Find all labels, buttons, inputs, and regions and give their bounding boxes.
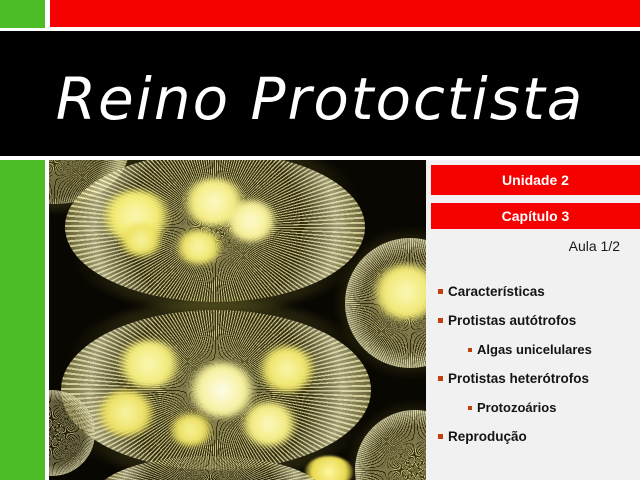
list-item-label: Protozoários	[477, 400, 556, 415]
volvox-cell-lower	[61, 310, 371, 470]
lesson-label: Aula 1/2	[426, 238, 620, 254]
bullet-square-icon	[438, 318, 443, 323]
content-panel: Unidade 2 Capítulo 3 Aula 1/2 Caracterís…	[426, 160, 640, 480]
unit-label: Unidade 2	[502, 172, 569, 188]
top-red-accent	[50, 0, 640, 27]
list-item: Protistas autótrofos	[426, 306, 640, 335]
title-band: Reino Protoctista	[0, 31, 640, 156]
bullet-square-icon	[468, 406, 472, 410]
volvox-daughter-colony	[305, 456, 353, 480]
list-item-label: Características	[448, 284, 545, 299]
list-item: Protozoários	[426, 393, 640, 422]
slide: Reino Protoctista	[0, 0, 640, 480]
list-item: Características	[426, 277, 640, 306]
bullet-square-icon	[438, 376, 443, 381]
topic-list: Características Protistas autótrofos Alg…	[426, 277, 640, 451]
list-item: Reprodução	[426, 422, 640, 451]
chapter-label: Capítulo 3	[502, 208, 570, 224]
unit-band: Unidade 2	[431, 165, 640, 195]
list-item: Protistas heterótrofos	[426, 364, 640, 393]
volvox-cell-upper	[65, 160, 365, 302]
bullet-square-icon	[468, 348, 472, 352]
list-item-label: Reprodução	[448, 429, 527, 444]
list-item-label: Algas unicelulares	[477, 342, 592, 357]
bullet-square-icon	[438, 289, 443, 294]
volvox-photo	[49, 160, 426, 480]
left-green-rail	[0, 160, 45, 480]
list-item-label: Protistas heterótrofos	[448, 371, 589, 386]
top-green-accent	[0, 0, 45, 28]
chapter-band: Capítulo 3	[431, 203, 640, 229]
slide-title: Reino Protoctista	[0, 65, 640, 133]
list-item-label: Protistas autótrofos	[448, 313, 576, 328]
bullet-square-icon	[438, 434, 443, 439]
list-item: Algas unicelulares	[426, 335, 640, 364]
